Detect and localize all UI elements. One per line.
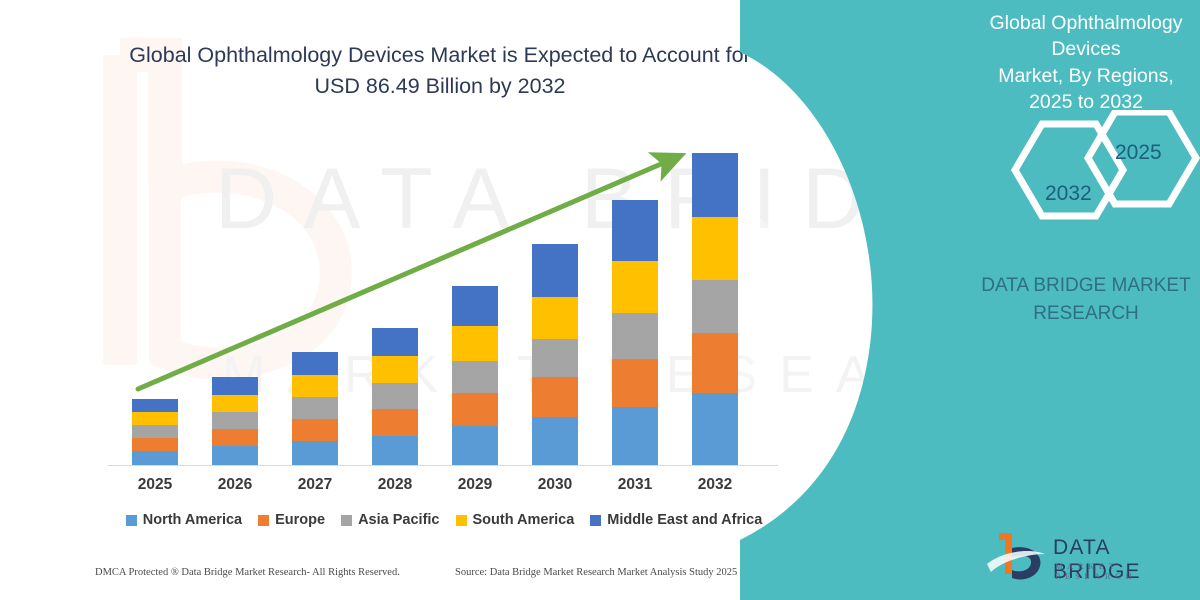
- bar-segment-2031-asia-pacific: [612, 313, 658, 359]
- bar-segment-2026-middle-east-and-africa: [212, 377, 258, 395]
- footer-copyright: DMCA Protected ® Data Bridge Market Rese…: [95, 567, 400, 578]
- data-bridge-logo: DATA BRIDGE MARKET RESEARCH: [985, 528, 1200, 590]
- right-panel-brand-line1: DATA BRIDGE MARKET: [981, 275, 1190, 296]
- right-panel-heading: Global Ophthalmology Devices Market, By …: [976, 10, 1196, 115]
- bar-2030[interactable]: [532, 244, 578, 465]
- x-axis-label-2031: 2031: [590, 476, 680, 494]
- bar-segment-2030-south-america: [532, 297, 578, 339]
- bar-segment-2027-asia-pacific: [292, 397, 338, 419]
- right-panel-heading-line2: Market, By Regions, 2025 to 2032: [998, 65, 1174, 113]
- bar-segment-2032-north-america: [692, 393, 738, 465]
- legend-swatch-icon: [456, 515, 467, 526]
- bar-segment-2030-middle-east-and-africa: [532, 244, 578, 297]
- right-teal-panel: Global Ophthalmology Devices Market, By …: [740, 0, 1200, 600]
- bar-2031[interactable]: [612, 200, 658, 465]
- footer-source: Source: Data Bridge Market Research Mark…: [455, 567, 737, 578]
- hexagon-2032-label: 2032: [1045, 182, 1092, 206]
- bar-segment-2028-asia-pacific: [372, 383, 418, 409]
- legend-item-north-america[interactable]: North America: [126, 512, 242, 528]
- chart-legend: North AmericaEuropeAsia PacificSouth Ame…: [108, 512, 780, 528]
- bar-segment-2030-north-america: [532, 417, 578, 465]
- bar-segment-2031-north-america: [612, 407, 658, 465]
- right-panel-brand: DATA BRIDGE MARKET RESEARCH: [976, 272, 1196, 327]
- bar-segment-2027-north-america: [292, 441, 338, 465]
- x-axis-label-2026: 2026: [190, 476, 280, 494]
- bar-segment-2026-europe: [212, 429, 258, 446]
- bar-segment-2032-middle-east-and-africa: [692, 153, 738, 217]
- bar-segment-2026-south-america: [212, 395, 258, 412]
- legend-label: Europe: [275, 512, 325, 528]
- legend-swatch-icon: [341, 515, 352, 526]
- legend-label: South America: [473, 512, 575, 528]
- hexagon-group: [970, 110, 1200, 240]
- legend-swatch-icon: [258, 515, 269, 526]
- bar-segment-2027-middle-east-and-africa: [292, 352, 338, 375]
- bar-segment-2029-south-america: [452, 326, 498, 361]
- legend-item-south-america[interactable]: South America: [456, 512, 575, 528]
- bar-segment-2031-south-america: [612, 261, 658, 313]
- bar-segment-2027-europe: [292, 419, 338, 441]
- bar-segment-2032-south-america: [692, 217, 738, 280]
- bar-segment-2027-south-america: [292, 375, 338, 397]
- bar-segment-2026-north-america: [212, 446, 258, 465]
- legend-item-asia-pacific[interactable]: Asia Pacific: [341, 512, 439, 528]
- bar-segment-2025-europe: [132, 438, 178, 451]
- infographic-root: DATA BRIDGE MARKET RESEARCH Global Ophth…: [0, 0, 1200, 600]
- bar-segment-2030-europe: [532, 377, 578, 417]
- bar-segment-2028-south-america: [372, 356, 418, 383]
- bar-segment-2028-europe: [372, 409, 418, 436]
- right-panel-brand-line2: RESEARCH: [1033, 303, 1139, 324]
- legend-label: Asia Pacific: [358, 512, 439, 528]
- x-axis-label-2025: 2025: [110, 476, 200, 494]
- bar-segment-2031-europe: [612, 359, 658, 407]
- bar-segment-2025-north-america: [132, 451, 178, 465]
- bar-segment-2028-north-america: [372, 436, 418, 465]
- legend-swatch-icon: [126, 515, 137, 526]
- bar-segment-2028-middle-east-and-africa: [372, 328, 418, 356]
- bar-segment-2025-middle-east-and-africa: [132, 399, 178, 412]
- bar-segment-2032-asia-pacific: [692, 280, 738, 333]
- legend-item-europe[interactable]: Europe: [258, 512, 325, 528]
- bar-2027[interactable]: [292, 352, 338, 465]
- right-panel-heading-line1: Global Ophthalmology Devices: [990, 12, 1183, 60]
- bar-segment-2025-asia-pacific: [132, 425, 178, 438]
- bar-2029[interactable]: [452, 286, 498, 465]
- bar-segment-2029-asia-pacific: [452, 361, 498, 393]
- logo-text-sub: MARKET RESEARCH: [1055, 561, 1200, 581]
- bar-segment-2029-north-america: [452, 426, 498, 465]
- bar-segment-2030-asia-pacific: [532, 339, 578, 377]
- legend-item-middle-east-and-africa[interactable]: Middle East and Africa: [590, 512, 762, 528]
- bar-segment-2032-europe: [692, 333, 738, 393]
- x-axis-label-2028: 2028: [350, 476, 440, 494]
- bar-2028[interactable]: [372, 328, 418, 465]
- hexagon-2025-label: 2025: [1115, 141, 1162, 165]
- legend-label: North America: [143, 512, 242, 528]
- bar-segment-2025-south-america: [132, 412, 178, 425]
- bar-2026[interactable]: [212, 377, 258, 465]
- x-axis-label-2027: 2027: [270, 476, 360, 494]
- bar-segment-2031-middle-east-and-africa: [612, 200, 658, 261]
- bar-segment-2026-asia-pacific: [212, 412, 258, 429]
- bar-segment-2029-middle-east-and-africa: [452, 286, 498, 326]
- x-axis-label-2029: 2029: [430, 476, 520, 494]
- bar-segment-2029-europe: [452, 393, 498, 426]
- x-axis-label-2030: 2030: [510, 476, 600, 494]
- x-axis-line: [108, 465, 778, 466]
- data-bridge-b-icon: [985, 528, 1049, 586]
- bar-2025[interactable]: [132, 399, 178, 465]
- bar-2032[interactable]: [692, 153, 738, 465]
- legend-swatch-icon: [590, 515, 601, 526]
